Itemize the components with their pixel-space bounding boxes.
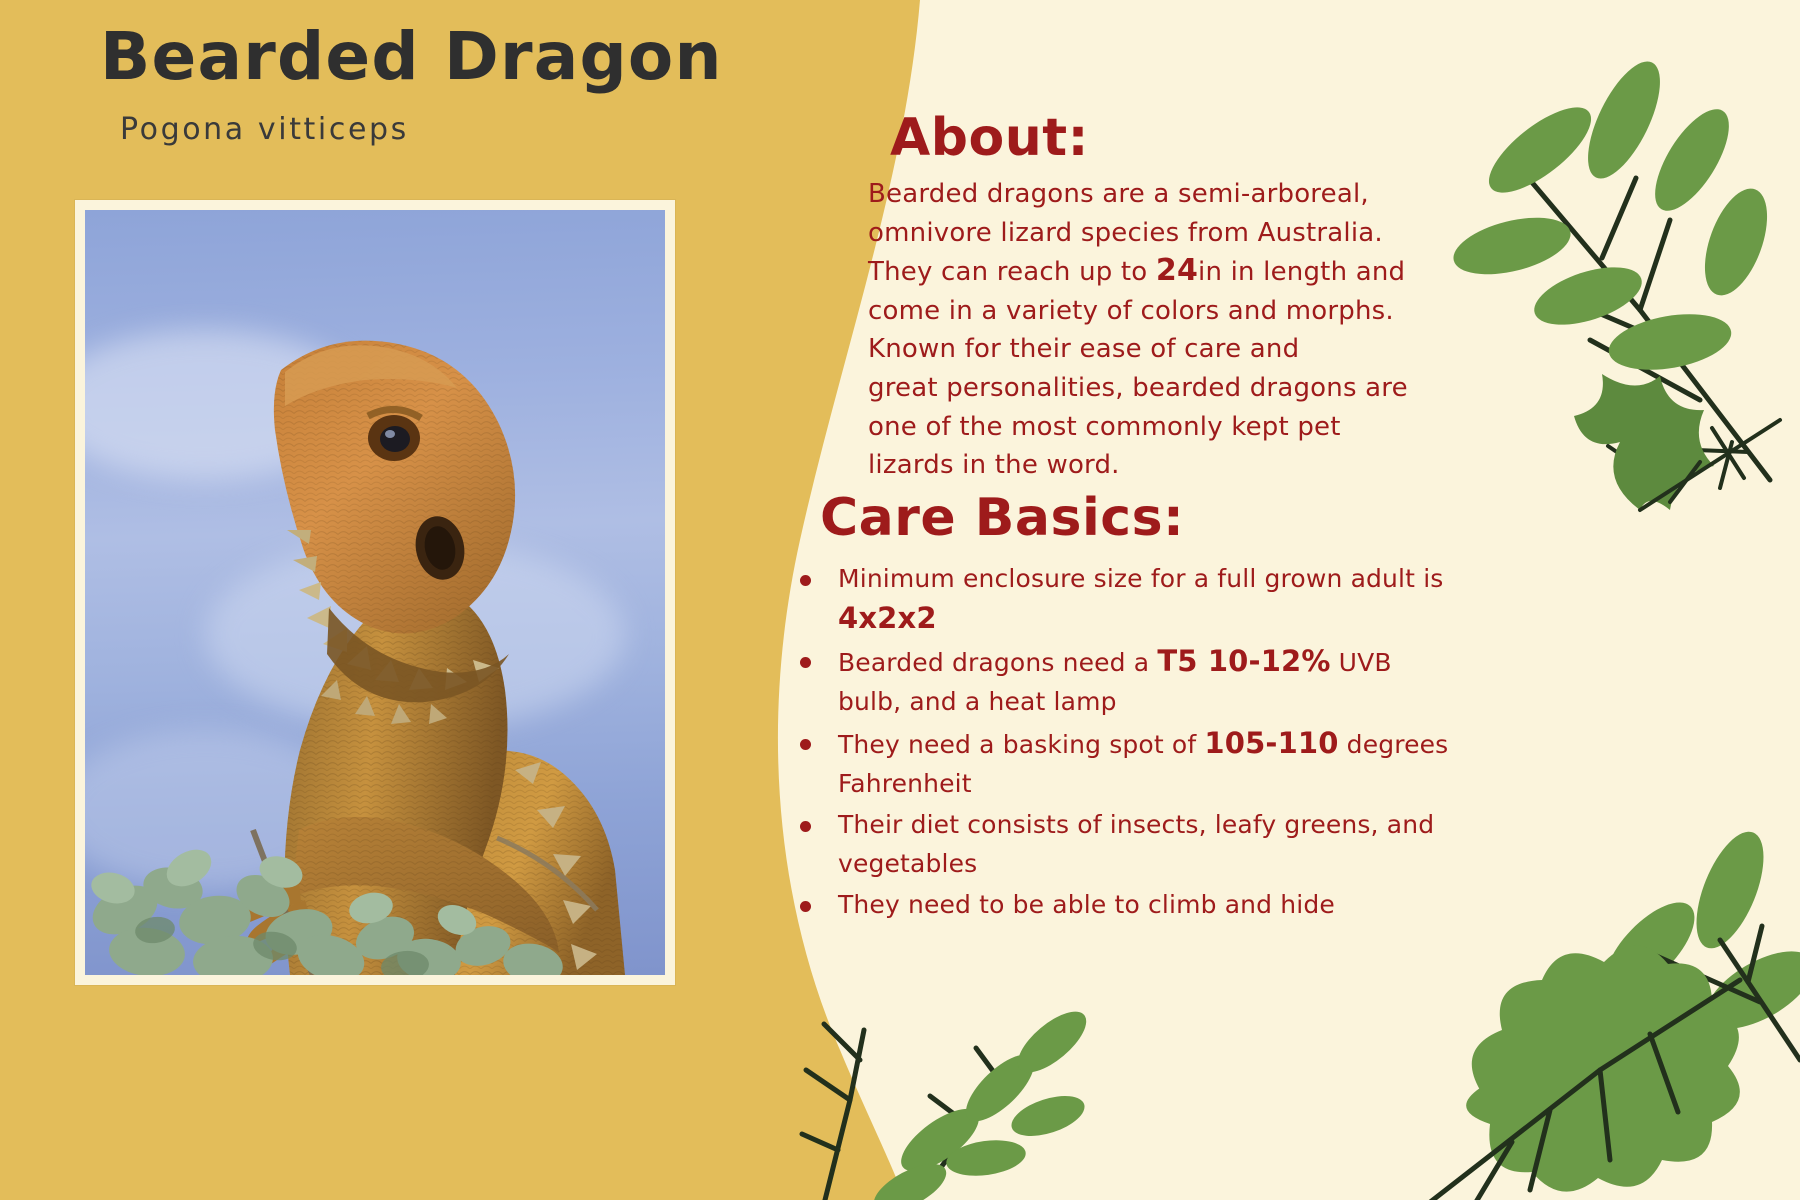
scientific-name: Pogona vitticeps (120, 112, 409, 147)
left-panel: Bearded Dragon Pogona vitticeps (0, 0, 880, 1200)
olive-branch-icon (1340, 10, 1800, 520)
oak-leaf-icon (1300, 830, 1800, 1200)
poster-canvas: Bearded Dragon Pogona vitticeps (0, 0, 1800, 1200)
olive-sprig-icon (790, 920, 1130, 1200)
photo-frame (75, 200, 675, 985)
dragon-photo (85, 210, 665, 975)
page-title: Bearded Dragon (100, 18, 723, 95)
succulent-plants (85, 760, 665, 975)
